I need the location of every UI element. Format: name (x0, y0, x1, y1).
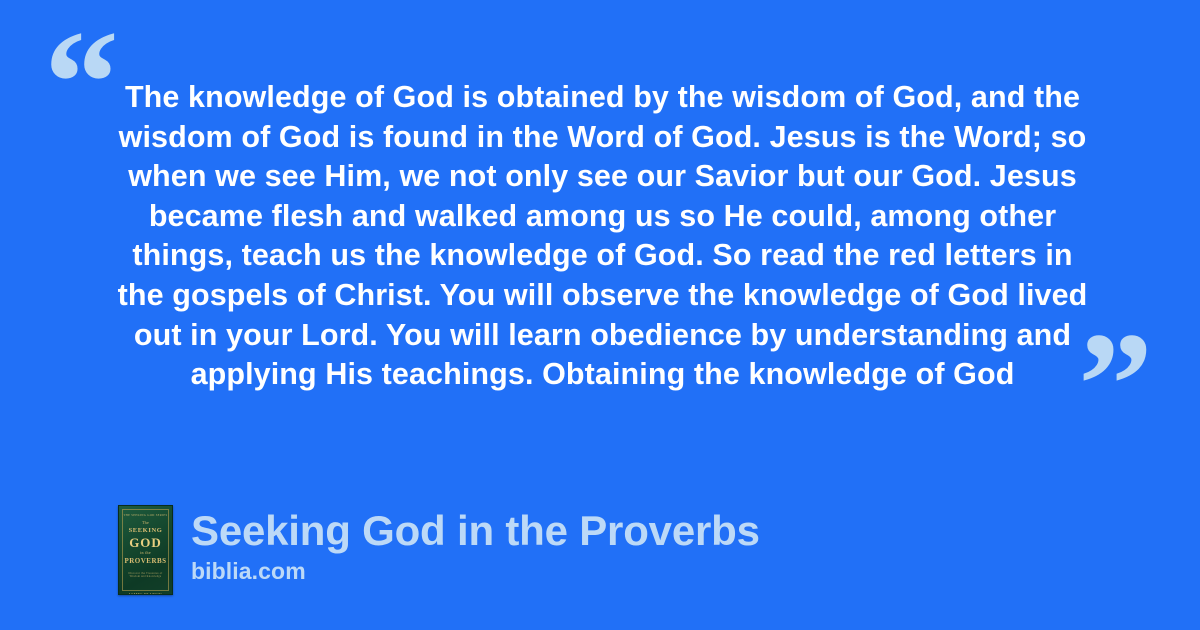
quote-text: The knowledge of God is obtained by the … (110, 78, 1095, 395)
book-cover-subtitle: Discover the Treasures of Wisdom and Kno… (123, 572, 168, 579)
book-cover-author: JAMES BLUNCK (123, 593, 168, 595)
book-cover-thumbnail: THE SEEKING GOD SERIES The SEEKING GOD i… (118, 505, 173, 595)
book-cover-seeking: SEEKING (123, 527, 168, 534)
book-cover-the: The (123, 521, 168, 526)
closing-quote-icon: ” (1078, 310, 1153, 460)
footer-attribution: THE SEEKING GOD SERIES The SEEKING GOD i… (118, 505, 760, 595)
book-title: Seeking God in the Proverbs (191, 507, 760, 555)
book-cover-series: THE SEEKING GOD SERIES (123, 514, 168, 517)
book-cover-in-the: in the (123, 551, 168, 556)
site-name: biblia.com (191, 557, 760, 585)
book-cover-proverbs: PROVERBS (123, 557, 168, 565)
footer-text-group: Seeking God in the Proverbs biblia.com (191, 505, 760, 585)
quote-card: “ The knowledge of God is obtained by th… (0, 0, 1200, 630)
opening-quote-icon: “ (44, 8, 119, 158)
book-cover-god: GOD (123, 536, 168, 551)
book-cover-content: THE SEEKING GOD SERIES The SEEKING GOD i… (119, 506, 172, 594)
